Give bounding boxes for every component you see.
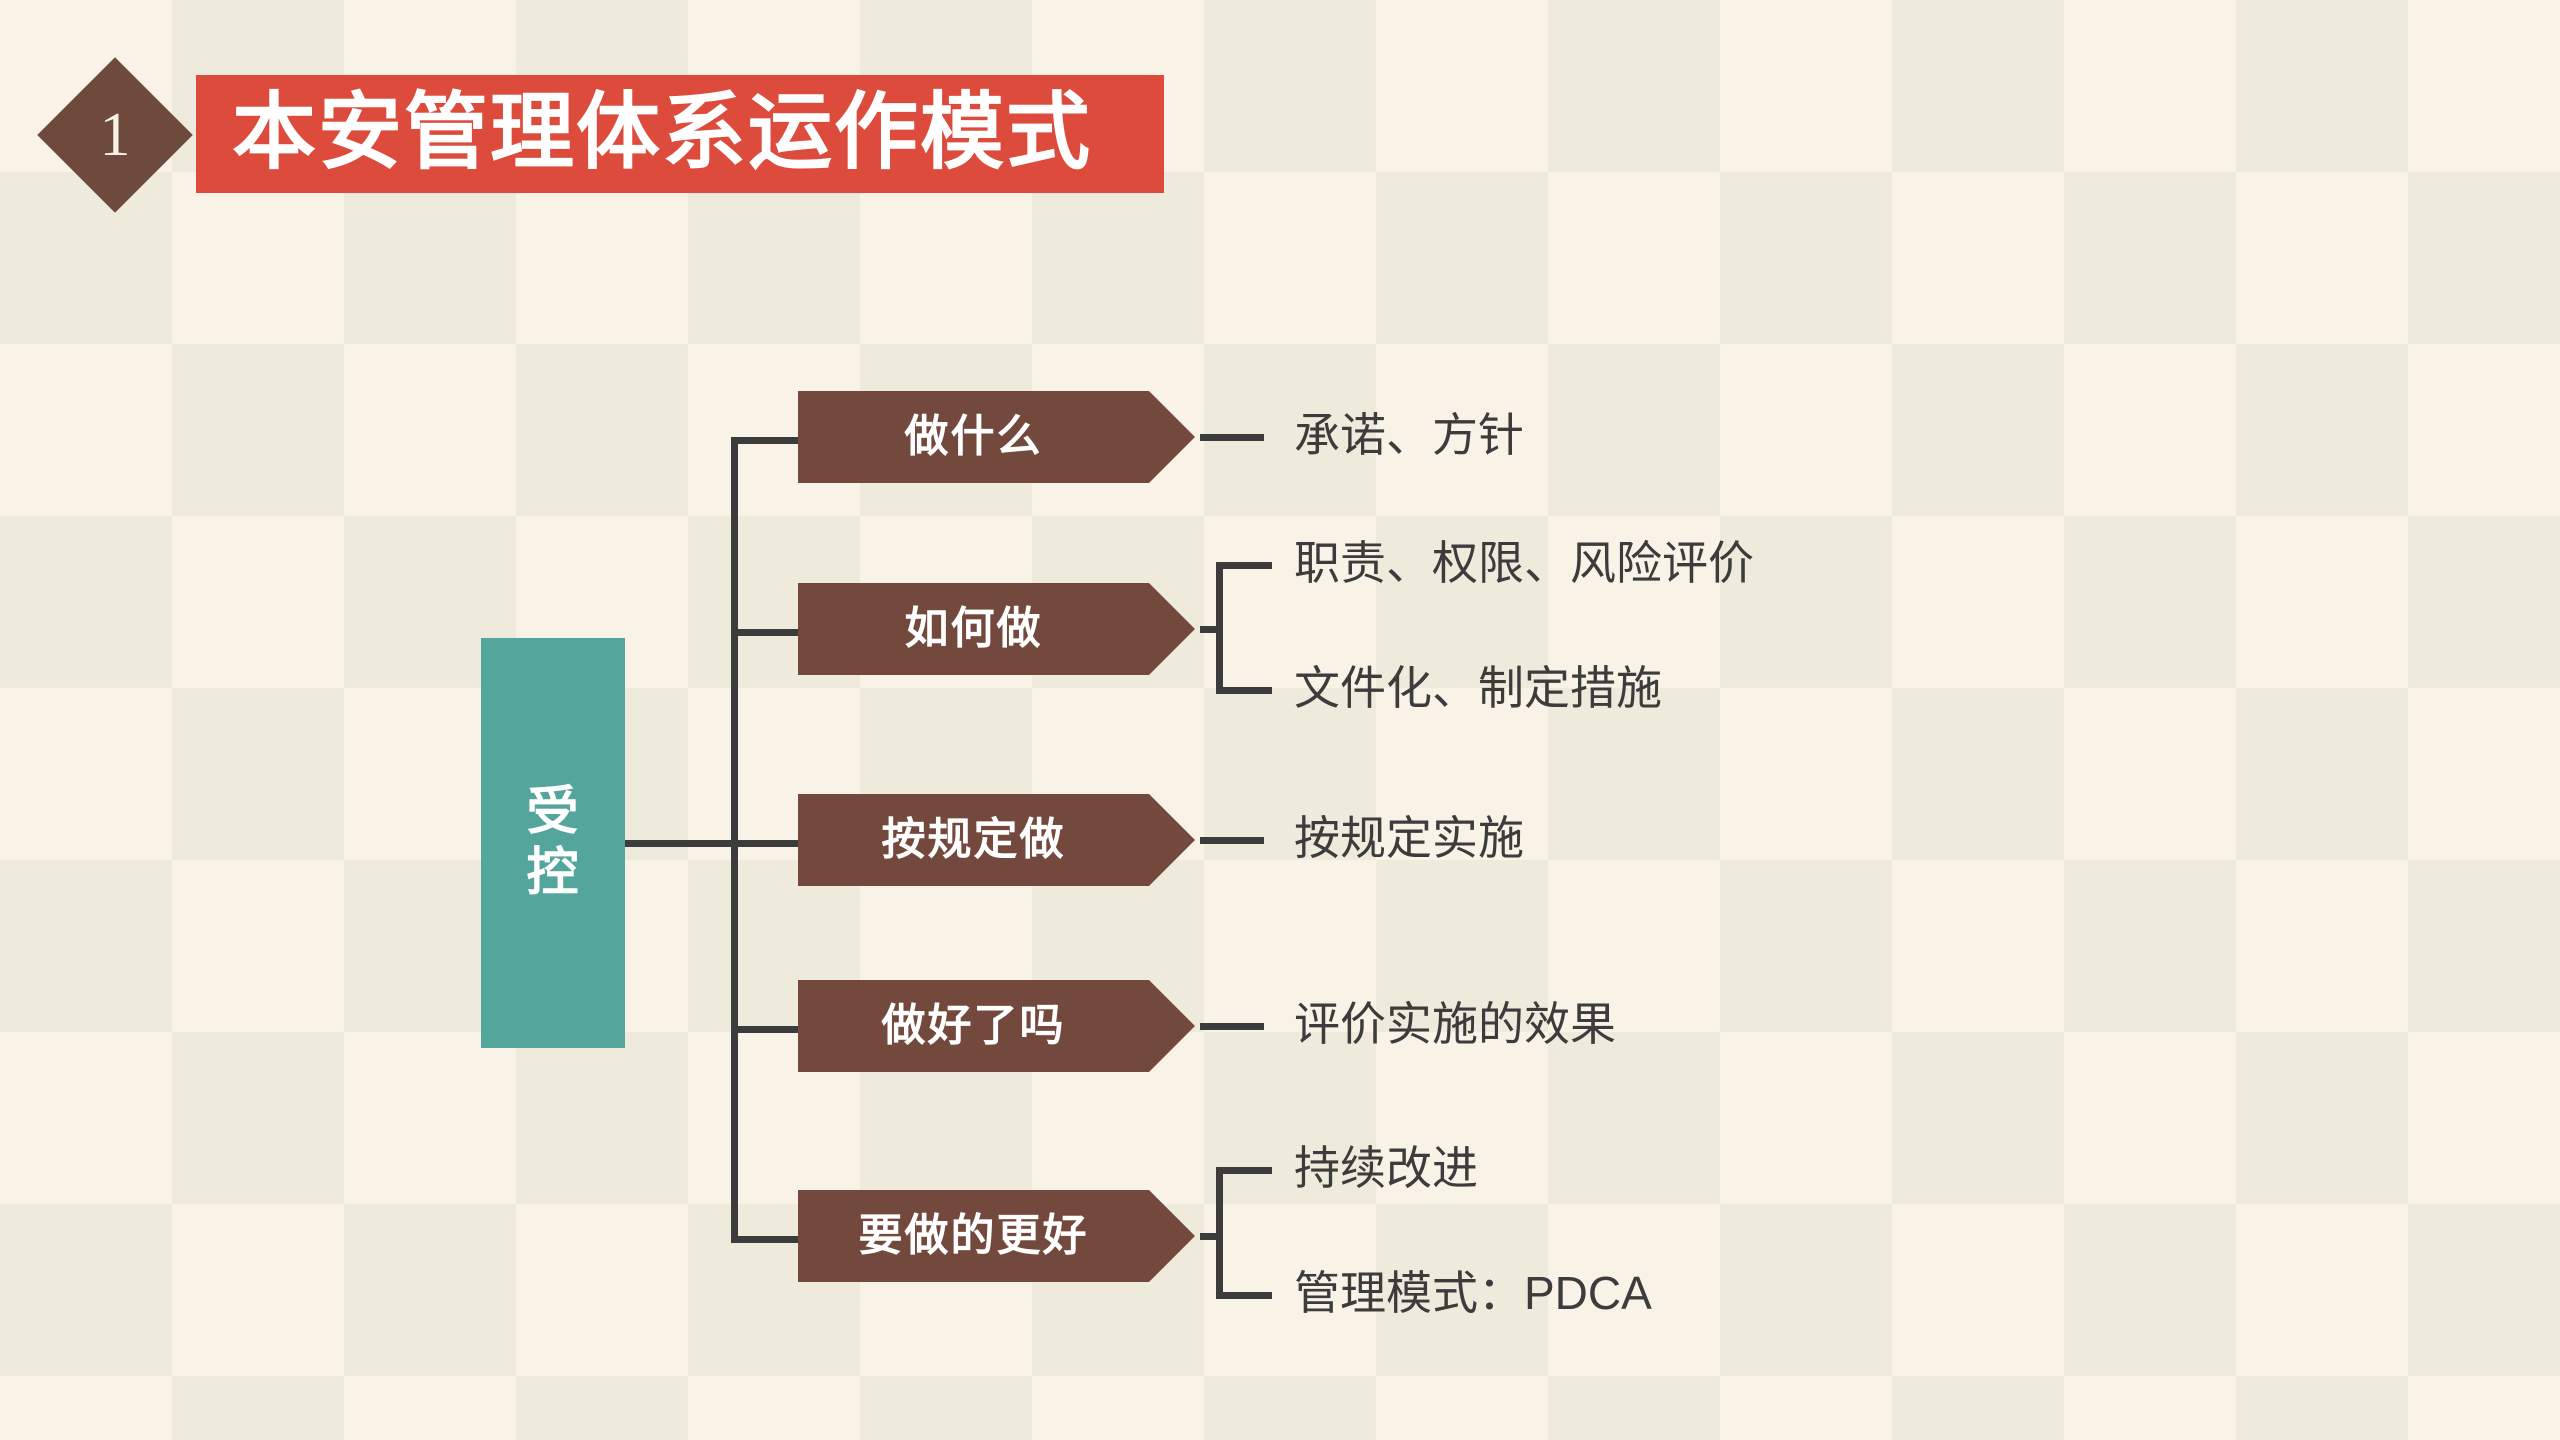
connector-branch-3 — [731, 840, 801, 847]
slide-canvas: 1 本安管理体系运作模式 受 控 做什么 承诺、方针 如何做 职责、权限、风险评… — [0, 0, 2560, 1440]
connector-branch-3-detail — [1200, 837, 1264, 844]
branch-2-detail-2: 文件化、制定措施 — [1294, 665, 1662, 711]
branch-node-3-label: 按规定做 — [798, 794, 1149, 886]
branch-2-detail-1: 职责、权限、风险评价 — [1294, 540, 1754, 586]
connector-branch-5-detail-2 — [1216, 1292, 1272, 1299]
branch-5-detail-2: 管理模式：PDCA — [1294, 1270, 1652, 1316]
root-label-char-1: 受 — [526, 782, 579, 843]
branch-node-5-label: 要做的更好 — [798, 1190, 1149, 1282]
branch-3-detail-1: 按规定实施 — [1294, 815, 1524, 861]
page-title: 本安管理体系运作模式 — [232, 73, 1132, 195]
branch-node-4[interactable]: 做好了吗 — [798, 980, 1195, 1072]
connector-root-to-trunk — [625, 840, 738, 847]
branch-node-4-label: 做好了吗 — [798, 980, 1149, 1072]
branch-5-detail-1: 持续改进 — [1294, 1145, 1478, 1191]
connector-branch-2-detail-1 — [1216, 562, 1272, 569]
connector-branch-1-detail — [1200, 434, 1264, 441]
branch-node-1-label: 做什么 — [798, 391, 1149, 483]
connector-branch-2 — [731, 629, 801, 636]
branch-node-5[interactable]: 要做的更好 — [798, 1190, 1195, 1282]
connector-branch-5-bracket — [1216, 1167, 1223, 1299]
branch-node-2[interactable]: 如何做 — [798, 583, 1195, 675]
connector-branch-2-bracket — [1216, 562, 1223, 694]
connector-branch-2-detail-2 — [1216, 687, 1272, 694]
connector-branch-4 — [731, 1026, 801, 1033]
branch-node-2-label: 如何做 — [798, 583, 1149, 675]
root-node-label: 受 控 — [481, 638, 625, 1048]
branch-4-detail-1: 评价实施的效果 — [1294, 1001, 1616, 1047]
branch-1-detail-1: 承诺、方针 — [1294, 412, 1524, 458]
branch-node-3[interactable]: 按规定做 — [798, 794, 1195, 886]
root-label-char-2: 控 — [526, 843, 579, 904]
connector-branch-5 — [731, 1236, 801, 1243]
slide-number-label: 1 — [42, 62, 188, 208]
connector-branch-4-detail — [1200, 1023, 1264, 1030]
root-node-controlled[interactable]: 受 控 — [481, 638, 625, 1048]
branch-node-1[interactable]: 做什么 — [798, 391, 1195, 483]
slide-number-badge: 1 — [42, 62, 188, 208]
connector-branch-5-detail-1 — [1216, 1167, 1272, 1174]
connector-branch-1 — [731, 437, 801, 444]
